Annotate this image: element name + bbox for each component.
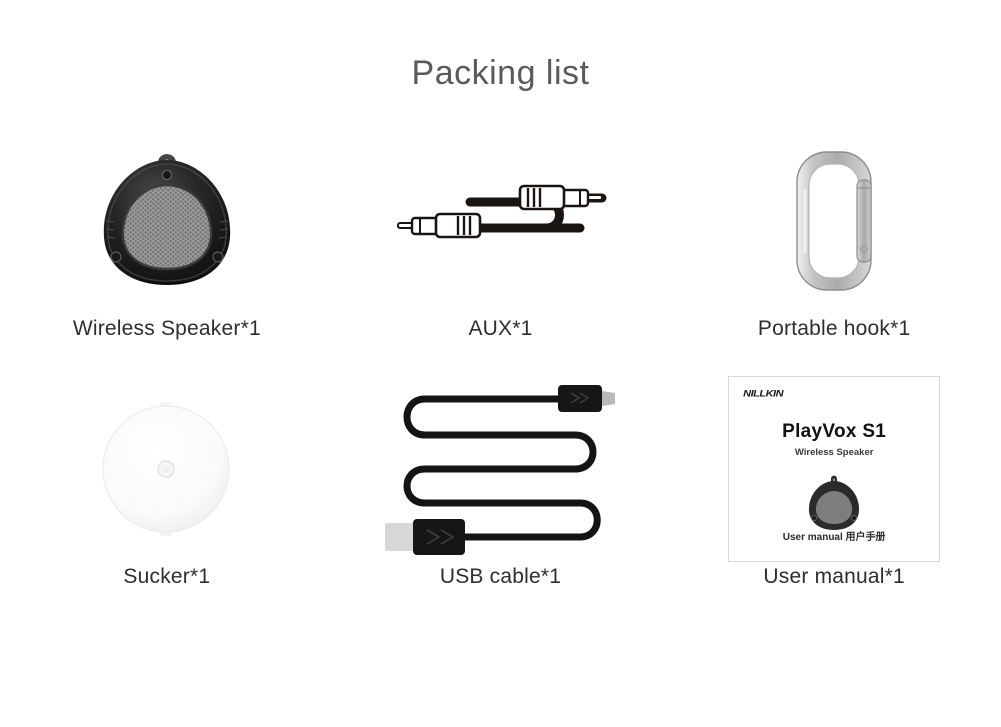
manual-footer-text: User manual 用户手册 bbox=[729, 528, 939, 543]
nillkin-logo: NILLKIN bbox=[743, 389, 783, 399]
packing-item-portable-hook: Portable hook*1 bbox=[667, 128, 1001, 376]
suction-cup-icon bbox=[92, 394, 242, 544]
packing-item-sucker: Sucker*1 bbox=[0, 376, 334, 624]
user-manual-art: NILLKIN PlayVox S1 Wireless Speaker User… bbox=[667, 376, 1001, 561]
carabiner-hook-icon bbox=[774, 141, 894, 301]
packing-item-label: AUX*1 bbox=[468, 317, 532, 341]
micro-usb-connector bbox=[558, 385, 615, 412]
carabiner-hook-art bbox=[667, 128, 1001, 313]
packing-item-user-manual: NILLKIN PlayVox S1 Wireless Speaker User… bbox=[667, 376, 1001, 624]
manual-subtitle: Wireless Speaker bbox=[729, 447, 939, 458]
page-title: Packing list bbox=[0, 0, 1001, 90]
speaker-illustration-icon bbox=[803, 473, 865, 535]
packing-item-usb-cable: USB cable*1 bbox=[334, 376, 668, 624]
packing-item-label: Portable hook*1 bbox=[758, 317, 910, 341]
usb-cable-icon bbox=[375, 369, 625, 569]
wireless-speaker-icon bbox=[87, 141, 247, 301]
aux-cable-art bbox=[334, 128, 668, 313]
packing-item-aux: AUX*1 bbox=[334, 128, 668, 376]
packing-item-label: User manual*1 bbox=[763, 565, 905, 589]
wireless-speaker-art bbox=[0, 128, 334, 313]
aux-cable-icon bbox=[350, 166, 650, 276]
user-manual-icon: NILLKIN PlayVox S1 Wireless Speaker User… bbox=[728, 376, 940, 562]
usb-cable-art bbox=[334, 376, 668, 561]
packing-item-label: Sucker*1 bbox=[123, 565, 210, 589]
manual-product-title: PlayVox S1 bbox=[729, 421, 939, 443]
manual-speaker-illustration bbox=[729, 473, 939, 535]
packing-item-label: Wireless Speaker*1 bbox=[73, 317, 261, 341]
usb-a-connector bbox=[385, 519, 465, 555]
suction-cup-art bbox=[0, 376, 334, 561]
packing-list-grid: Wireless Speaker*1 bbox=[0, 128, 1001, 624]
packing-item-label: USB cable*1 bbox=[440, 565, 561, 589]
packing-item-wireless-speaker: Wireless Speaker*1 bbox=[0, 128, 334, 376]
